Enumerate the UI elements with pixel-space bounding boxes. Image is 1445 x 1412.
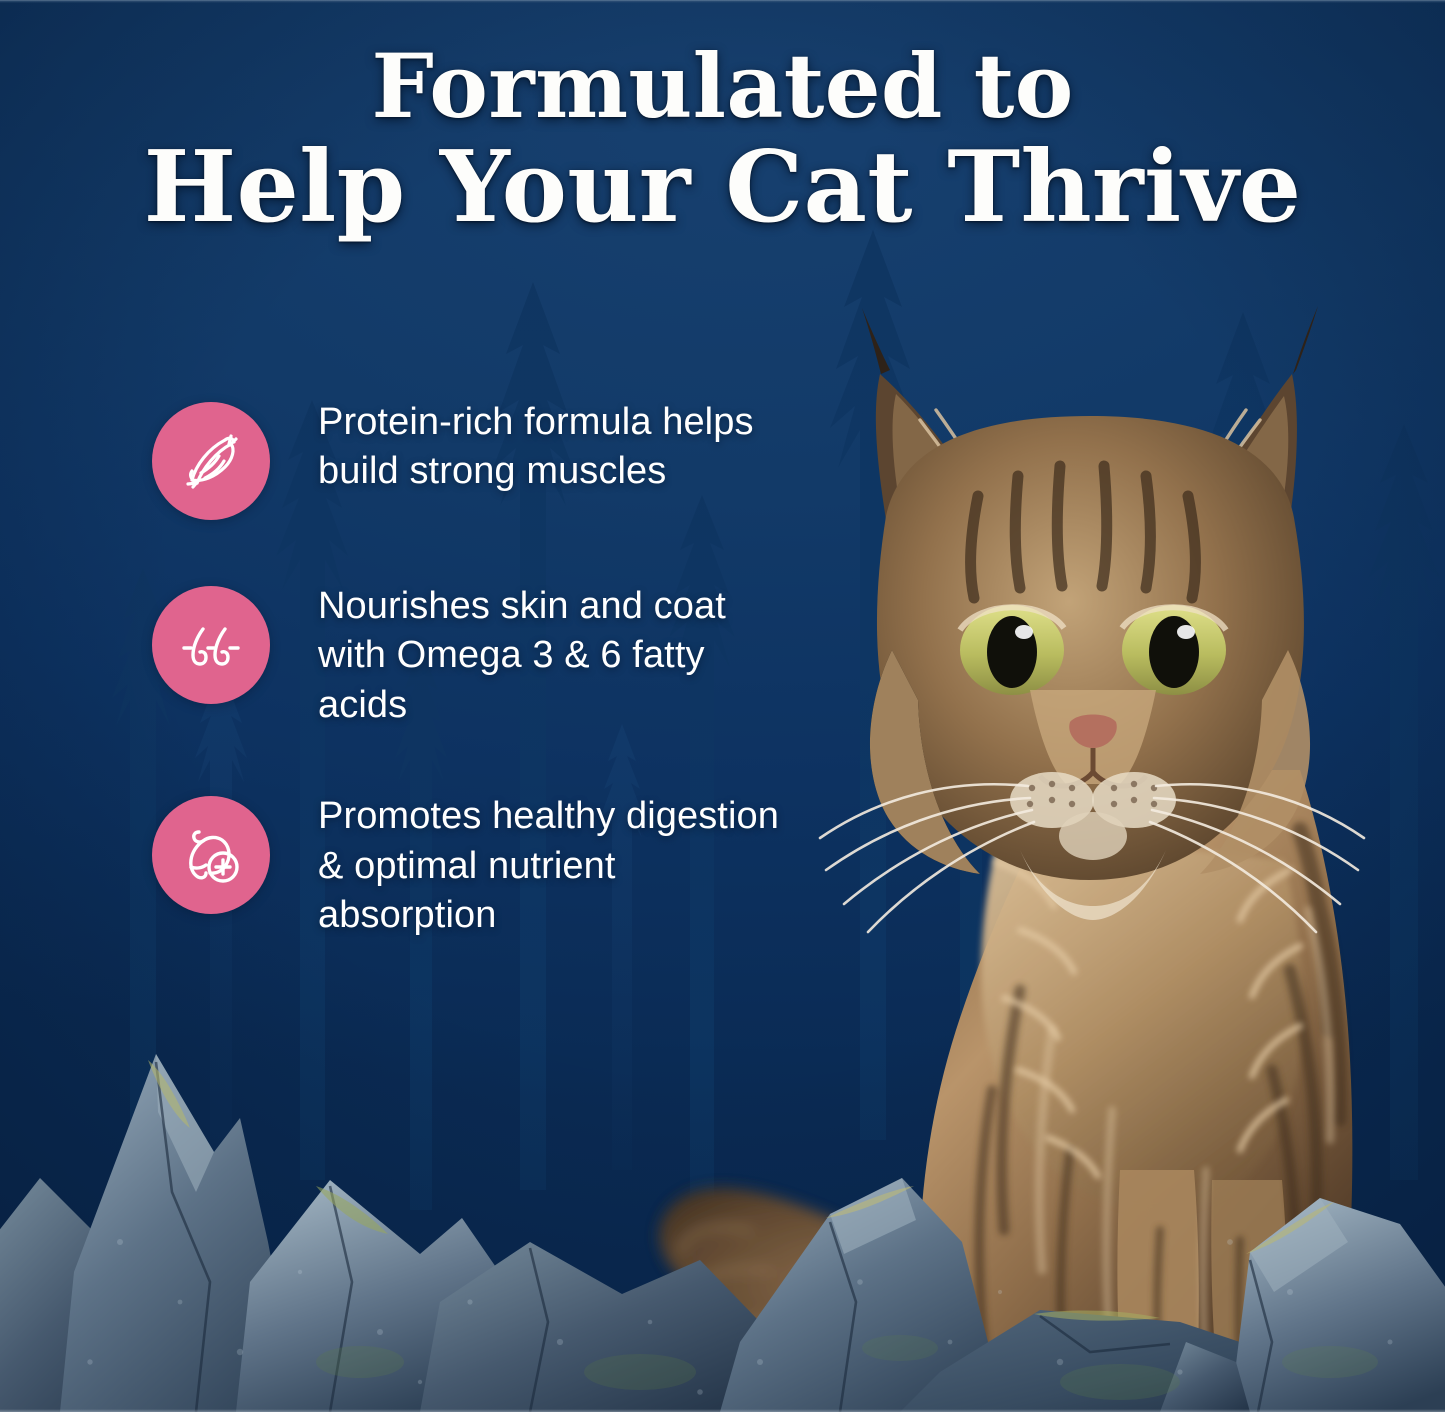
feature-item-skin-coat: Nourishes skin and coat with Omega 3 & 6… [152, 582, 792, 730]
hair-follicle-skin-icon [175, 609, 247, 681]
stomach-plus-icon [175, 819, 247, 891]
rock-foreground-layer [0, 942, 1445, 1412]
feature-icon-badge [152, 796, 270, 914]
feature-text-protein: Protein-rich formula helps build strong … [318, 398, 788, 497]
feature-text-digestion: Promotes healthy digestion & optimal nut… [318, 792, 788, 940]
feature-item-protein: Protein-rich formula helps build strong … [152, 398, 792, 520]
top-edge-highlight [0, 0, 1445, 3]
feature-text-skin-coat: Nourishes skin and coat with Omega 3 & 6… [318, 582, 792, 730]
product-feature-banner: Formulated to Help Your Cat Thrive [0, 0, 1445, 1412]
feature-icon-badge [152, 402, 270, 520]
feature-list: Protein-rich formula helps build strong … [152, 398, 792, 940]
feature-icon-badge [152, 586, 270, 704]
feature-item-digestion: Promotes healthy digestion & optimal nut… [152, 792, 792, 940]
muscle-fiber-icon [175, 425, 247, 497]
